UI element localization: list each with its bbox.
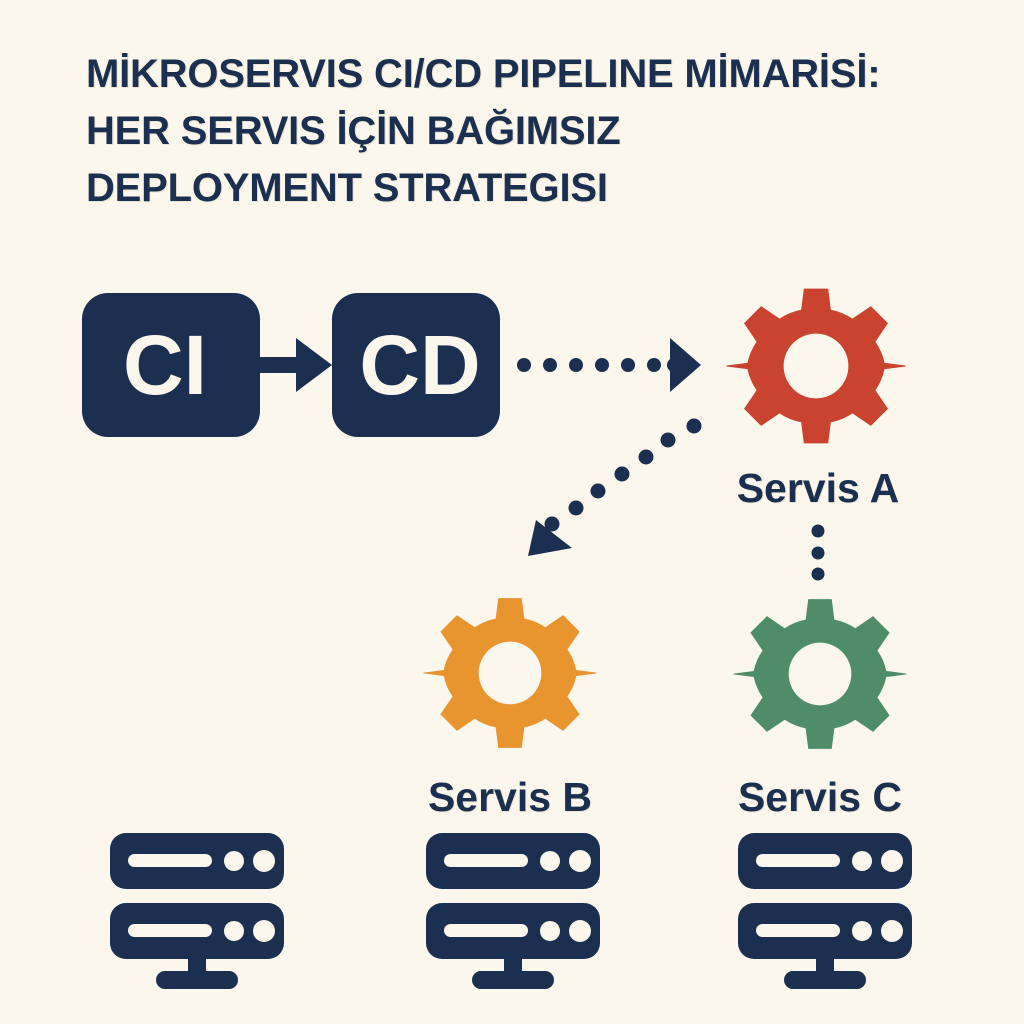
server-rack-icon-2[interactable] xyxy=(426,833,600,989)
cd-to-service-a-arrow xyxy=(517,338,701,392)
server-rack-icon-1[interactable] xyxy=(110,833,284,989)
diagram-overlay xyxy=(0,0,1024,1024)
service-a-to-service-c-link xyxy=(812,525,825,581)
server-rack-icon-3[interactable] xyxy=(738,833,912,989)
ci-to-cd-arrow xyxy=(256,338,332,392)
service-a-label: Servis A xyxy=(737,468,900,509)
service-c-gear-icon[interactable] xyxy=(733,599,906,749)
infographic-canvas: MİKROSERVIS CI/CD PIPELINE MİMARİSİ: HER… xyxy=(0,0,1024,1024)
service-b-label: Servis B xyxy=(428,777,592,818)
service-a-gear-icon[interactable] xyxy=(726,289,905,444)
cd-to-service-b-arrow xyxy=(528,419,702,557)
service-b-gear-icon[interactable] xyxy=(423,598,596,748)
service-c-label: Servis C xyxy=(738,777,902,818)
